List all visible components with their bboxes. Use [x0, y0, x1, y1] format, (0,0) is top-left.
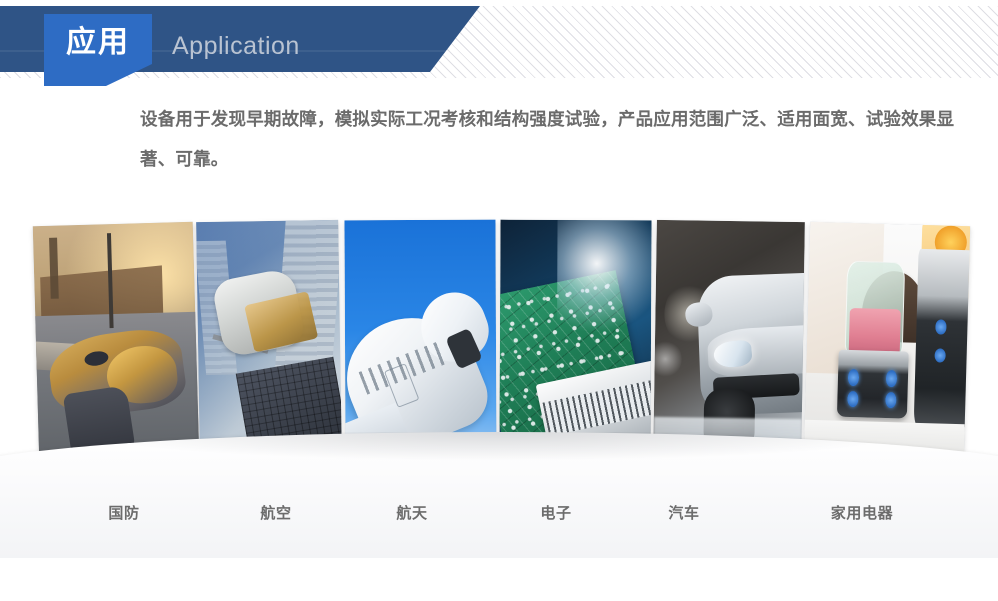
- gallery-item-aerospace[interactable]: [344, 220, 496, 464]
- fighter-jet-on-aircraft-carrier-image: [33, 222, 200, 462]
- silver-car-headlight-image: [653, 220, 805, 462]
- caption-defense: 国防: [84, 502, 164, 526]
- gallery-captions: 国防 航空 航天 电子 汽车 家用电器: [0, 502, 998, 530]
- green-circuit-board-connector-image: [499, 220, 651, 464]
- curved-shelf: [0, 432, 998, 558]
- gallery-item-defense[interactable]: [33, 222, 200, 462]
- hatch-top-mask: [0, 0, 998, 6]
- section-description: 设备用于发现早期故障，模拟实际工况考核和结构强度试验，产品应用范围广泛、适用面宽…: [140, 99, 970, 179]
- caption-home-appliance: 家用电器: [800, 502, 924, 526]
- section-badge-label: 应用: [44, 26, 152, 60]
- section-title-english: Application: [172, 31, 300, 61]
- caption-aviation: 航空: [236, 502, 316, 526]
- satellite-with-solar-panel-image: [196, 220, 342, 462]
- page-header: 应用 Application: [0, 0, 998, 95]
- airliner-nose-blue-sky-image: [344, 220, 496, 464]
- gallery-item-home-appliance[interactable]: [804, 222, 971, 462]
- caption-automobile: 汽车: [644, 502, 724, 526]
- kitchen-blender-appliances-image: [804, 222, 971, 462]
- gallery-item-automobile[interactable]: [653, 220, 805, 462]
- gallery-item-electronics[interactable]: [499, 220, 651, 464]
- shelf-shadow: [0, 432, 998, 472]
- gallery-item-aviation[interactable]: [196, 220, 342, 462]
- caption-electronics: 电子: [516, 502, 596, 526]
- caption-aerospace: 航天: [372, 502, 452, 526]
